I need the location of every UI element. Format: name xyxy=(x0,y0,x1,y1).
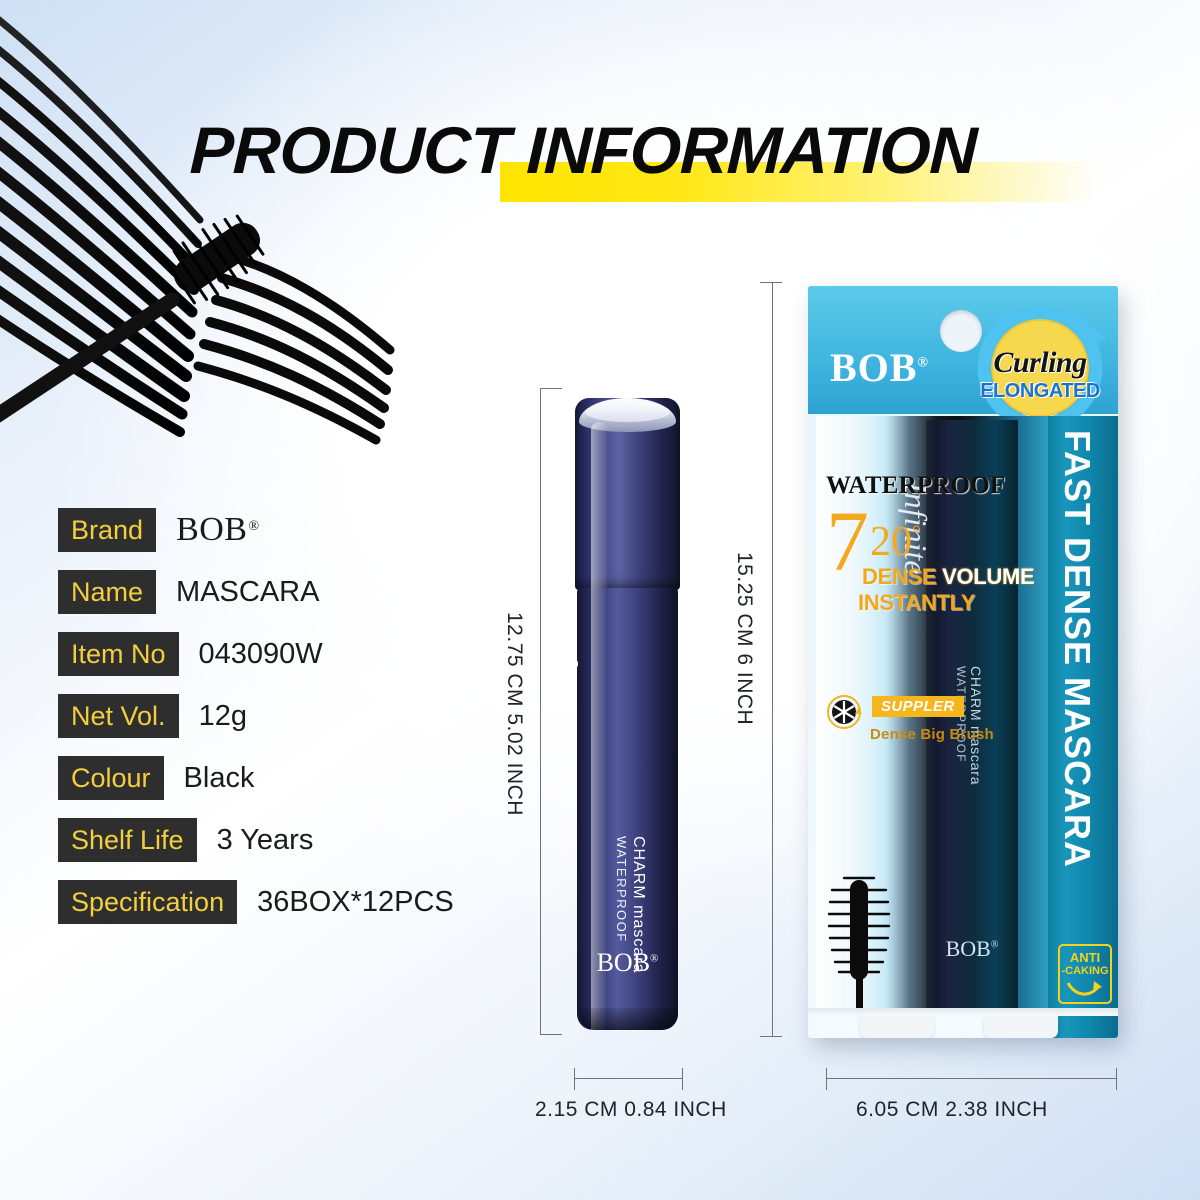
dimension-cap xyxy=(540,1034,562,1035)
tube-brand-text: BOB xyxy=(597,948,650,977)
anti-caking-line2: -CAKING xyxy=(1060,965,1110,977)
dimension-cap xyxy=(540,388,562,389)
curling-badge-subtitle: ELONGATED xyxy=(974,380,1106,403)
table-row: Shelf Life 3 Years xyxy=(58,818,528,862)
product-information-page: PRODUCT INFORMATION Brand BOB® Name MASC… xyxy=(0,0,1200,1200)
mascara-swatch-image xyxy=(0,0,480,450)
tube-base-shadow xyxy=(579,1008,678,1030)
package-brand-logo: BOB® xyxy=(830,344,929,391)
tube-cap xyxy=(575,398,680,590)
dimension-label: 2.15 CM 0.84 INCH xyxy=(535,1098,727,1122)
spec-value-shelf-life: 3 Years xyxy=(217,824,314,857)
package-720-claim: 7 20° DENSE VOLUME INSTANTLY xyxy=(826,502,1036,612)
spec-value-name: MASCARA xyxy=(176,576,319,609)
spec-label-shelf-life: Shelf Life xyxy=(58,818,197,862)
table-row: Name MASCARA xyxy=(58,570,528,614)
package-bottom-edge xyxy=(808,1008,1118,1016)
anti-caking-arrow-icon xyxy=(1066,979,1104,999)
registered-mark-icon: ® xyxy=(917,356,928,371)
claim-number-20: 20° xyxy=(870,512,921,563)
dimension-line xyxy=(540,388,541,1034)
tube-brand-logo: BOB® xyxy=(577,948,678,978)
package-brand-text: BOB xyxy=(830,345,917,390)
claim-volume-text: VOLUME xyxy=(942,564,1034,589)
dimension-cap xyxy=(1116,1068,1117,1090)
spec-value-item-no: 043090W xyxy=(199,638,323,671)
dimension-cap xyxy=(760,282,782,283)
spec-label-brand: Brand xyxy=(58,508,156,552)
spec-value-brand: BOB® xyxy=(176,511,260,549)
spec-label-specification: Specification xyxy=(58,880,237,924)
table-row: Net Vol. 12g xyxy=(58,694,528,738)
claim-dense-volume: DENSE VOLUME xyxy=(862,564,1034,590)
curling-badge: Curling ELONGATED xyxy=(974,302,1106,434)
product-package-image: BOB® Curling ELONGATED Infinite WATERPRO… xyxy=(808,286,1118,1038)
spec-label-net-vol: Net Vol. xyxy=(58,694,179,738)
table-row: Colour Black xyxy=(58,756,528,800)
table-row: Brand BOB® xyxy=(58,508,528,552)
package-blister-tab xyxy=(984,1016,1058,1038)
dimension-cap xyxy=(760,1036,782,1037)
spec-label-item-no: Item No xyxy=(58,632,179,676)
package-inner-brand-text: BOB xyxy=(946,936,991,961)
anti-caking-line1: ANTI xyxy=(1060,950,1110,965)
dimension-line xyxy=(574,1078,682,1079)
spec-value-colour: Black xyxy=(184,762,255,795)
dense-big-brush-label: Dense Big Brush xyxy=(870,726,994,743)
tube-charm-label: CHARM mascara xyxy=(629,836,647,1030)
page-title-block: PRODUCT INFORMATION xyxy=(190,96,1110,206)
package-side-title: FAST DENSE MASCARA xyxy=(1056,430,1098,990)
product-spec-table: Brand BOB® Name MASCARA Item No 043090W … xyxy=(58,508,528,942)
curling-badge-title: Curling xyxy=(974,346,1106,380)
claim-dense-text: DENSE xyxy=(862,564,942,589)
dimension-cap xyxy=(574,1068,575,1090)
package-wand-icon xyxy=(826,864,898,1016)
table-row: Specification 36BOX*12PCS xyxy=(58,880,528,924)
spec-value-net-vol: 12g xyxy=(199,700,247,733)
package-blister-tab xyxy=(860,1016,934,1038)
registered-mark-icon: ® xyxy=(991,940,999,951)
package-inner-charm: CHARM mascara xyxy=(968,666,984,866)
suppler-badge: SUPPLER xyxy=(872,696,964,717)
package-inner-brand: BOB® xyxy=(926,936,1018,962)
dimension-cap xyxy=(826,1068,827,1090)
dimension-line xyxy=(826,1078,1116,1079)
dimension-label: 12.75 CM 5.02 INCH xyxy=(502,612,526,816)
brush-rotation-icon xyxy=(826,694,862,730)
spec-label-colour: Colour xyxy=(58,756,164,800)
registered-mark-icon: ® xyxy=(650,952,658,964)
spec-value-brand-text: BOB xyxy=(176,511,247,549)
claim-20-text: 20 xyxy=(870,519,912,565)
tube-cap-gloss xyxy=(591,422,607,602)
claim-instantly: INSTANTLY xyxy=(858,590,975,616)
package-card: BOB® Curling ELONGATED Infinite WATERPRO… xyxy=(808,286,1118,1038)
tube-body: Infinite WATERPROOF CHARM mascara BOB® xyxy=(577,588,678,1030)
table-row: Item No 043090W xyxy=(58,632,528,676)
spec-label-name: Name xyxy=(58,570,156,614)
dimension-cap xyxy=(682,1068,683,1090)
tube-script-name: Infinite xyxy=(577,618,585,818)
degree-icon: ° xyxy=(912,520,921,545)
dimension-line xyxy=(772,282,773,1036)
anti-caking-badge: ANTI -CAKING xyxy=(1058,944,1112,1004)
dimension-label: 15.25 CM 6 INCH xyxy=(732,552,756,725)
tube-cap-top-inner xyxy=(585,402,670,422)
spec-value-specification: 36BOX*12PCS xyxy=(257,886,454,919)
mascara-tube-image: Infinite WATERPROOF CHARM mascara BOB® xyxy=(575,380,680,1040)
tube-waterproof-label: WATERPROOF xyxy=(614,836,629,1030)
dimension-label: 6.05 CM 2.38 INCH xyxy=(856,1098,1048,1122)
registered-mark-icon: ® xyxy=(248,519,259,535)
package-side-panel: FAST DENSE MASCARA ANTI -CAKING xyxy=(1048,416,1118,1038)
page-title: PRODUCT INFORMATION xyxy=(188,96,1112,204)
